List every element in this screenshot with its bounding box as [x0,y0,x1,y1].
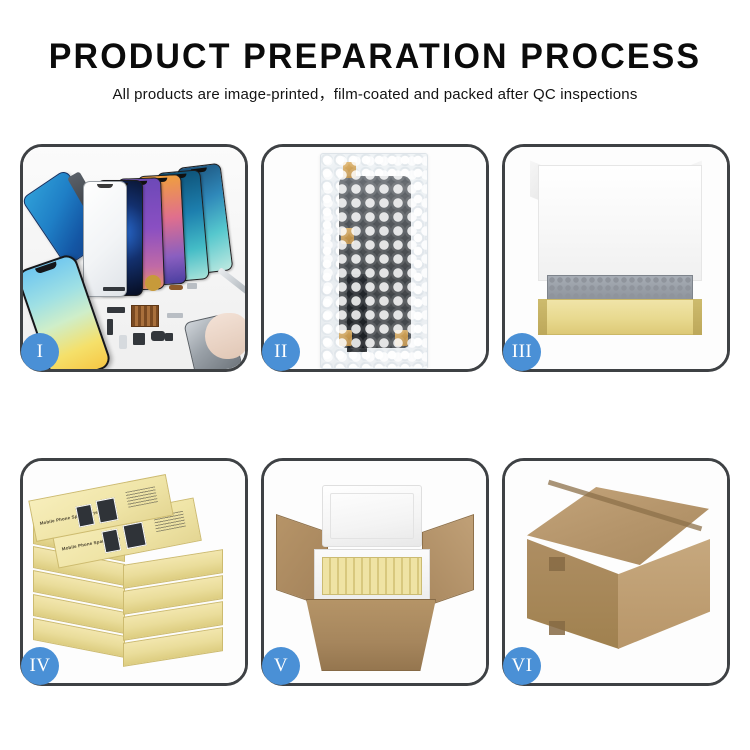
process-steps-grid: I II [20,144,730,686]
spare-parts-cluster [103,273,243,369]
part-module [151,331,165,341]
step-panel-4: Mobile Phone Spare Parts Mobile Phone Sp… [20,458,248,686]
step-image-2 [264,147,486,369]
box-window-1 [75,504,95,528]
part-chip-array [131,305,159,327]
technician-hand [205,313,245,359]
carton-tab-lower [549,621,565,635]
sealed-carton-photo [505,461,727,683]
product-preparation-process-page: PRODUCT PREPARATION PROCESS All products… [0,0,750,750]
box-window-2 [96,497,119,523]
carton-body [306,599,436,671]
step-panel-5: V [261,458,489,686]
step-image-1 [23,147,245,369]
tape-piece [395,330,408,346]
box-spec-lines [125,486,158,507]
part-strip [103,287,125,291]
tape-piece [343,162,356,178]
step-badge-5: V [262,647,300,685]
part-camera [133,333,145,345]
bubble-wrap-bag [320,153,428,369]
part-speaker [145,275,161,291]
part-connector [169,285,183,290]
step-image-6 [505,461,727,683]
part-flex-cable [107,307,125,313]
foam-box-photo [505,147,727,369]
step-image-3 [505,147,727,369]
packed-yellow-boxes [322,557,422,595]
step-panel-6: VI [502,458,730,686]
part-bracket [107,319,113,335]
step-badge-2: II [262,333,300,371]
white-foam-liner [538,165,702,281]
carton-tab-upper [549,557,565,571]
tape-piece [341,228,354,244]
step-badge-1: I [21,333,59,371]
part-clip [187,283,197,289]
carton-packing-photo [264,461,486,683]
step-badge-6: VI [503,647,541,685]
part-sim-tray [119,335,127,349]
kraft-box-tray [538,299,702,335]
styrofoam-lid [322,485,422,547]
step-badge-4: IV [21,647,59,685]
step-image-5 [264,461,486,683]
box-window-2 [123,522,147,549]
products-photo [23,147,245,369]
step-panel-3: III [502,144,730,372]
part-antenna [167,313,183,318]
step-panel-1: I [20,144,248,372]
bubble-wrap-photo [264,147,486,369]
step-image-4: Mobile Phone Spare Parts Mobile Phone Sp… [23,461,245,683]
page-header: PRODUCT PREPARATION PROCESS All products… [0,36,750,105]
page-subtitle: All products are image-printed，film-coat… [0,85,750,105]
page-title: PRODUCT PREPARATION PROCESS [11,36,739,78]
stacked-boxes-photo: Mobile Phone Spare Parts Mobile Phone Sp… [23,461,245,683]
part-screw-set [165,333,173,341]
kraft-box-tray-right [693,299,702,335]
kraft-box-tray-left [538,299,547,335]
step-badge-3: III [503,333,541,371]
tape-piece [339,330,352,346]
step-panel-2: II [261,144,489,372]
box-window-1 [101,529,121,554]
